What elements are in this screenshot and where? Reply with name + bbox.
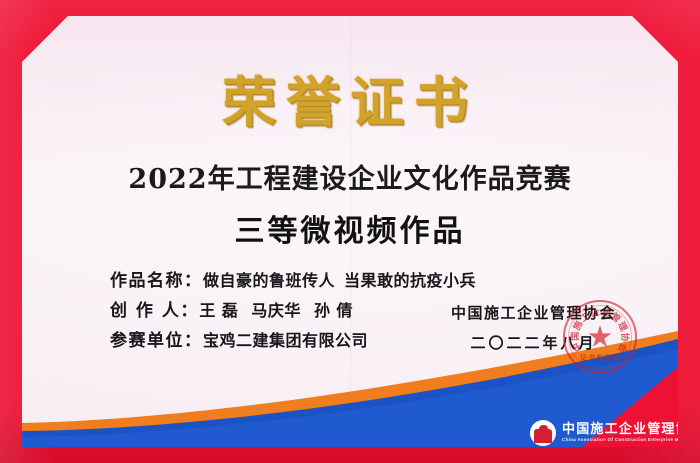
arch-pillar-logo-icon xyxy=(530,420,556,446)
work-title-label: 作品名称 xyxy=(110,266,184,291)
award-category: 三等微视频作品 xyxy=(22,206,678,250)
certificate-title: 荣誉证书 xyxy=(22,58,678,137)
signature-block: 中国施工企业管理协会 二〇二二年八月 xyxy=(451,302,616,353)
issue-date: 二〇二二年八月 xyxy=(451,332,616,353)
organization-label: 参赛单位 xyxy=(110,326,184,351)
work-title-colon: ： xyxy=(184,266,201,291)
seal-ring-char: 理 xyxy=(615,319,631,333)
seal-ring-char: 协 xyxy=(619,333,632,342)
creator-name-3: 孙 倩 xyxy=(314,301,353,320)
creator-name-2: 马庆华 xyxy=(251,301,301,320)
organization-value: 宝鸡二建集团有限公司 xyxy=(203,327,368,351)
certificate-inner-page: 荣誉证书 2022年工程建设企业文化作品竞赛 三等微视频作品 作品名称 ： 做自… xyxy=(22,16,678,447)
logo-chinese-name: 中国施工企业管理协会 xyxy=(562,423,678,437)
work-title-value: 做自豪的鲁班传人当果敢的抗疫小兵 xyxy=(203,267,476,291)
seal-ring-char: 会 xyxy=(615,341,631,355)
field-row-work-title: 作品名称 ： 做自豪的鲁班传人当果敢的抗疫小兵 xyxy=(110,266,570,291)
competition-name: 2022年工程建设企业文化作品竞赛 xyxy=(22,157,678,196)
creators-label: 创 作 人 xyxy=(110,296,180,321)
creators-value: 王 磊马庆华孙 倩 xyxy=(199,297,353,321)
logo-pillar xyxy=(539,425,548,443)
logo-english-name: China Association Of Construction Enterp… xyxy=(562,438,678,443)
association-logo: 中国施工企业管理协会 China Association Of Construc… xyxy=(530,420,678,446)
logo-text-block: 中国施工企业管理协会 China Association Of Construc… xyxy=(562,423,678,443)
work-title-part1: 做自豪的鲁班传人 xyxy=(203,271,335,290)
organization-colon: ： xyxy=(184,326,201,351)
work-title-part2: 当果敢的抗疫小兵 xyxy=(344,271,476,290)
seal-bottom-text: 证书专用章 xyxy=(565,353,635,363)
creators-colon: ： xyxy=(180,296,197,321)
certificate: 荣誉证书 2022年工程建设企业文化作品竞赛 三等微视频作品 作品名称 ： 做自… xyxy=(0,0,700,463)
issuing-organization: 中国施工企业管理协会 xyxy=(451,302,616,323)
creator-name-1: 王 磊 xyxy=(199,301,238,320)
logo-arch-right xyxy=(547,429,552,443)
